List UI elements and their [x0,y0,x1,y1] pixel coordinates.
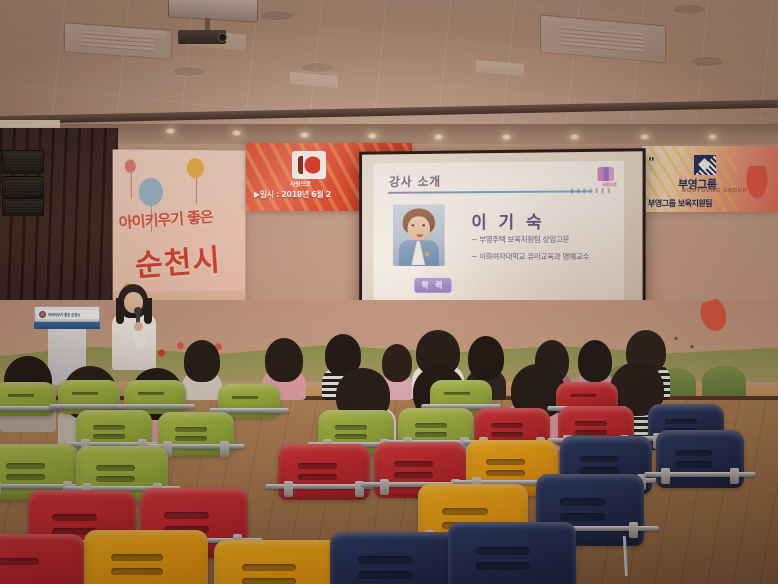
downlight [640,134,649,140]
heart-logo-icon [298,156,320,174]
mural-bush [702,366,746,396]
chair-slot [491,432,523,437]
event-date-line: ▶일시 : 2018년 6월 2 [254,189,331,200]
chair[interactable] [158,412,234,456]
chair-slot [298,463,337,469]
chair[interactable] [0,382,56,416]
presenter-hair-side [144,298,152,324]
portrait-lapel-pin [425,252,429,256]
event-logo [292,151,326,179]
presenter-hand [134,322,143,331]
slide-corner-logo-icon [598,167,614,181]
portrait-face [408,216,430,242]
chair-slot [0,558,39,566]
chair-slot [486,470,525,476]
audience-head [265,338,303,382]
chair[interactable] [278,444,370,500]
pa-speaker [2,176,44,198]
banner-booyoung: " 부영그룹 BOOYOUNG GROUP 부영그룹 보육지원팀 [642,146,778,212]
slide-bullet-list: − 부영주택 보육지원팀 상임고문 − 이화여자대학교 유아교육과 명예교수 [471,234,612,268]
chair-slot [138,392,164,396]
chair-slot [442,508,488,516]
chair[interactable] [0,534,84,584]
chair-slot [298,474,337,480]
chair-slot [394,461,433,467]
balloon-icon [139,178,163,206]
chair-slot [444,392,470,396]
downlight [300,132,309,138]
chair-slot [570,394,596,398]
chair[interactable] [58,380,120,414]
chair-slot [476,562,530,570]
slide-section-badge: 학 력 [414,278,451,293]
booyoung-subtitle: 부영그룹 보육지원팀 [648,198,712,209]
chair-clamp [629,522,638,538]
chair-clamp [661,468,670,484]
chair[interactable] [84,530,208,584]
chair[interactable] [330,532,458,584]
chair-slot [96,476,135,482]
podium-band [34,322,100,329]
downlight [368,133,377,139]
banner-left-line1: 아이키우기 좋은 [118,204,243,233]
booyoung-brand-en: BOOYOUNG GROUP [682,188,747,194]
audience-head [468,336,504,380]
chair-slot [242,564,296,572]
chair-slot [6,474,45,480]
portrait-eye [411,224,414,226]
chair-slot [242,578,296,584]
chair[interactable] [124,380,186,414]
chair-slot [93,434,125,439]
speaker-portrait [393,204,445,266]
podium-sign: 아이키우기 좋은 순천시 [37,310,99,319]
chair-slot [486,459,525,465]
chair-slot [96,465,135,471]
slide-title-rule [388,190,592,194]
chair-slot [358,556,412,564]
chair-slot [675,450,712,456]
quote-mark: " [648,156,655,171]
projector-lens-icon [218,33,227,42]
downlight [502,134,511,140]
chair-clamp [220,441,229,457]
chair-slot [580,467,619,473]
pa-speaker [2,150,44,174]
chair-slot [580,456,619,462]
downlight [232,130,241,136]
chair-slot [6,463,45,469]
podium-top: 아이키우기 좋은 순천시 [34,306,100,322]
chair-slot [232,396,258,400]
balloon-icon [187,158,204,178]
chair-rail [115,404,194,409]
chair-clamp [284,481,293,497]
chair[interactable] [214,540,342,584]
chair-slot [8,394,34,398]
chair-slot [675,461,712,467]
chair-clamp [0,481,1,497]
chair-slot [560,513,605,521]
chair-slot [335,434,367,439]
booyoung-logo-icon [694,155,716,175]
chair[interactable] [448,522,576,584]
chair-slot [72,392,98,396]
slide-bullet: − 이화여자대학교 유아교육과 명예교수 [471,251,612,262]
chair-clamp [730,468,739,484]
chair-slot [476,547,530,555]
podium-sign-text: 아이키우기 좋은 순천시 [48,312,80,317]
balloon-icon [125,160,136,173]
presenter-hair-side [116,298,124,324]
chair-slot [93,425,125,430]
city-emblem-icon [39,311,46,318]
chair-slot [415,432,447,437]
slide-speaker-name: 이 기 숙 [471,208,544,233]
portrait-eye [422,224,425,226]
mascot-figure-icon [740,166,774,210]
chair-slot [111,554,163,562]
slide-logo-caption: 사랑으로 [602,182,617,188]
downlight [166,128,175,134]
chair-slot [575,430,607,435]
chair-slot [175,436,207,441]
downlight [708,134,717,140]
pa-speaker [2,198,44,216]
chair-slot [394,472,433,478]
slide-dot-decoration [571,188,612,193]
downlight [570,134,579,140]
downlight [434,134,443,140]
chair-clamp [380,479,389,495]
chair-slot [560,498,605,506]
chair-slot [491,423,523,428]
chair-slot [175,427,207,432]
audience-member [182,340,222,400]
chair-slot [415,423,447,428]
chair-slot [111,568,163,576]
auditorium-scene: 아이키우기 좋은 순천시 사랑으로 ▶일시 : 2018년 6월 2 " 부영그… [0,0,778,584]
banner-left-line2: 순천시 [133,235,222,285]
event-logo-caption: 사랑으로 [290,179,311,188]
chair[interactable] [656,430,744,488]
chair-slot [358,571,412,579]
slide-bullet: − 부영주택 보육지원팀 상임고문 [471,234,612,245]
chair-slot [335,425,367,430]
slide-title: 강사 소개 [389,173,441,190]
chair-slot [52,514,97,522]
chair-slot [665,419,697,424]
chair-slot [164,512,209,520]
chair-slot [575,421,607,426]
audience-head [184,340,220,382]
presenter [108,284,160,370]
